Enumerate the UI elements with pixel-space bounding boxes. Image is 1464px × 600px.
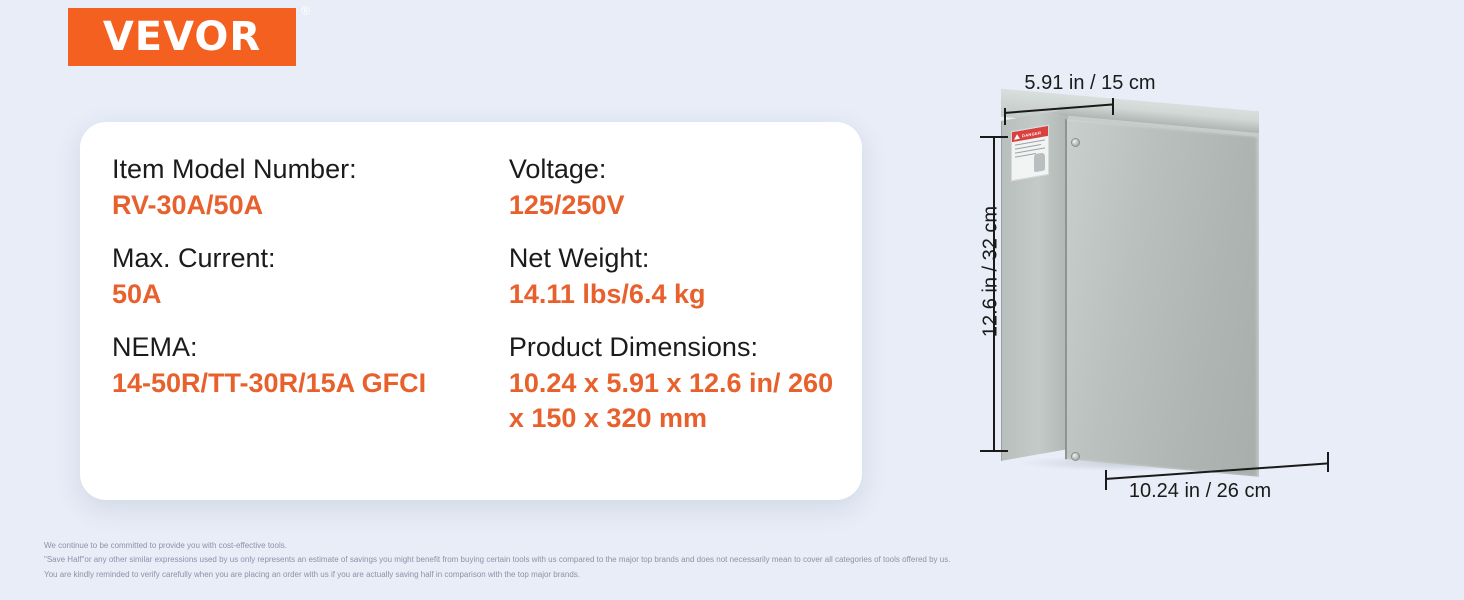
spec-value-voltage: 125/250V — [509, 188, 842, 224]
spec-item-net-weight: Net Weight: 14.11 lbs/6.4 kg — [509, 241, 842, 313]
danger-warning-label: DANGER — [1011, 125, 1049, 182]
spec-label-max-current: Max. Current: — [112, 241, 509, 277]
spec-label-nema: NEMA: — [112, 330, 509, 366]
dimension-tick-height-bottom — [980, 450, 1008, 452]
spec-item-nema: NEMA: 14-50R/TT-30R/15A GFCI — [112, 330, 509, 402]
specifications-card: Item Model Number: RV-30A/50A Max. Curre… — [80, 122, 862, 500]
specifications-grid: Item Model Number: RV-30A/50A Max. Curre… — [112, 152, 842, 454]
spec-label-product-dimensions: Product Dimensions: — [509, 330, 842, 366]
spec-value-nema: 14-50R/TT-30R/15A GFCI — [112, 366, 509, 402]
warning-triangle-icon — [1014, 133, 1020, 139]
dimension-line-height — [993, 136, 995, 452]
dimension-tick-depth-right — [1112, 98, 1114, 115]
specifications-column-right: Voltage: 125/250V Net Weight: 14.11 lbs/… — [509, 152, 842, 454]
spec-item-max-current: Max. Current: 50A — [112, 241, 509, 313]
dimension-label-depth: 5.91 in / 15 cm — [960, 72, 1220, 95]
product-figure: DANGER 5.91 in / 15 cm 12.6 in / 32 cm 1… — [960, 60, 1390, 520]
enclosure-screw-bottom-left — [1071, 452, 1080, 461]
spec-item-model: Item Model Number: RV-30A/50A — [112, 152, 509, 224]
spec-item-voltage: Voltage: 125/250V — [509, 152, 842, 224]
dimension-tick-width-left — [1105, 470, 1107, 490]
spec-item-product-dimensions: Product Dimensions: 10.24 x 5.91 x 12.6 … — [509, 330, 842, 438]
footer-disclaimer: We continue to be committed to provide y… — [44, 540, 1424, 583]
dimension-label-height: 12.6 in / 32 cm — [980, 182, 1003, 362]
spec-value-model: RV-30A/50A — [112, 188, 509, 224]
electric-shock-hand-icon — [1034, 152, 1045, 172]
spec-value-product-dimensions: 10.24 x 5.91 x 12.6 in/ 260 x 150 x 320 … — [509, 366, 842, 438]
registered-trademark-icon: ® — [301, 4, 310, 18]
disclaimer-line-1: We continue to be committed to provide y… — [44, 540, 1424, 551]
spec-value-net-weight: 14.11 lbs/6.4 kg — [509, 277, 842, 313]
specifications-column-left: Item Model Number: RV-30A/50A Max. Curre… — [112, 152, 509, 454]
dimension-label-width: 10.24 in / 26 cm — [1070, 480, 1330, 503]
disclaimer-line-3: You are kindly reminded to verify carefu… — [44, 569, 1424, 580]
spec-label-net-weight: Net Weight: — [509, 241, 842, 277]
spec-label-model: Item Model Number: — [112, 152, 509, 188]
spec-value-max-current: 50A — [112, 277, 509, 313]
dimension-tick-width-right — [1327, 452, 1329, 472]
brand-logo: VEVOR ® — [68, 8, 296, 66]
disclaimer-line-2: "Save Half"or any other similar expressi… — [44, 554, 1424, 565]
spec-label-voltage: Voltage: — [509, 152, 842, 188]
brand-wordmark: VEVOR — [103, 17, 261, 57]
dimension-tick-height-top — [980, 136, 1008, 138]
enclosure-front-panel — [1065, 119, 1259, 477]
dimension-tick-depth-left — [1004, 108, 1006, 125]
enclosure-screw-top-left — [1071, 138, 1080, 147]
